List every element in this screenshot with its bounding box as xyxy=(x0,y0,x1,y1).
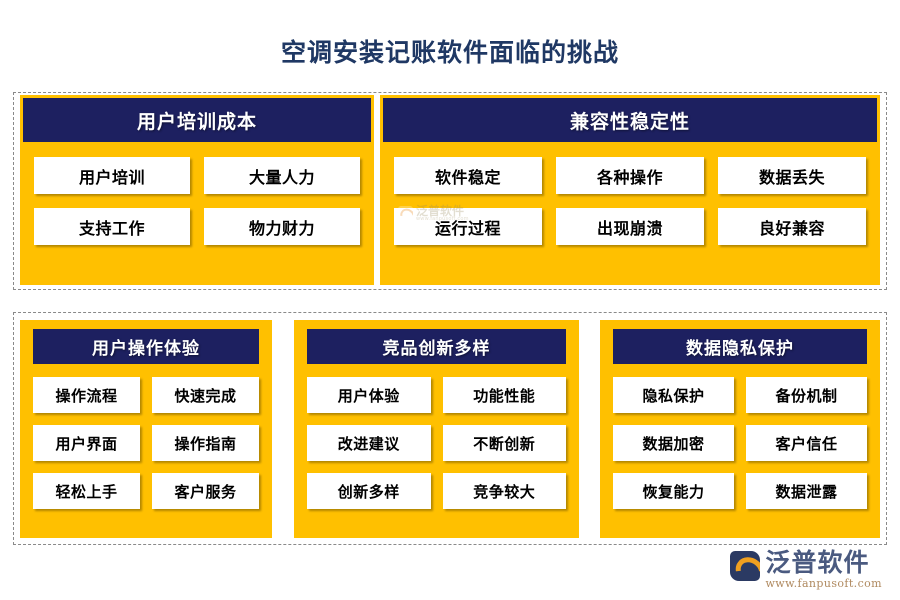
panel-header-user-training-cost: 用户培训成本 xyxy=(23,98,371,142)
item-box[interactable]: 用户体验 xyxy=(307,377,431,413)
items-grid-data-privacy: 隐私保护 备份机制 数据加密 客户信任 恢复能力 数据泄露 xyxy=(613,377,867,509)
item-box[interactable]: 客户服务 xyxy=(152,473,259,509)
item-box[interactable]: 恢复能力 xyxy=(613,473,734,509)
panel-header-data-privacy: 数据隐私保护 xyxy=(613,329,867,364)
item-box[interactable]: 不断创新 xyxy=(443,425,567,461)
panel-header-compatibility-stability: 兼容性稳定性 xyxy=(383,98,877,142)
item-box[interactable]: 操作指南 xyxy=(152,425,259,461)
item-box[interactable]: 出现崩溃 xyxy=(556,208,704,245)
items-grid-compatibility-stability: 软件稳定 各种操作 数据丢失 运行过程 出现崩溃 良好兼容 xyxy=(394,157,866,245)
brand-logo: 泛普软件 www.fanpusoft.com xyxy=(730,550,882,589)
item-box[interactable]: 功能性能 xyxy=(443,377,567,413)
items-grid-user-training-cost: 用户培训 大量人力 支持工作 物力财力 xyxy=(34,157,360,245)
item-box[interactable]: 软件稳定 xyxy=(394,157,542,194)
panel-compatibility-stability[interactable]: 兼容性稳定性 软件稳定 各种操作 数据丢失 运行过程 出现崩溃 良好兼容 泛普软… xyxy=(380,95,880,285)
item-box[interactable]: 竞争较大 xyxy=(443,473,567,509)
item-box[interactable]: 运行过程 xyxy=(394,208,542,245)
item-box[interactable]: 支持工作 xyxy=(34,208,190,245)
brand-swoosh-icon xyxy=(730,551,760,581)
item-box[interactable]: 改进建议 xyxy=(307,425,431,461)
item-box[interactable]: 数据加密 xyxy=(613,425,734,461)
item-box[interactable]: 物力财力 xyxy=(204,208,360,245)
brand-url: www.fanpusoft.com xyxy=(765,578,882,589)
items-grid-user-experience: 操作流程 快速完成 用户界面 操作指南 轻松上手 客户服务 xyxy=(33,377,259,509)
item-box[interactable]: 用户培训 xyxy=(34,157,190,194)
item-box[interactable]: 创新多样 xyxy=(307,473,431,509)
brand-text: 泛普软件 www.fanpusoft.com xyxy=(765,550,882,589)
item-box[interactable]: 轻松上手 xyxy=(33,473,140,509)
infographic-page: 空调安装记账软件面临的挑战 用户培训成本 用户培训 大量人力 支持工作 物力财力… xyxy=(0,0,900,600)
panel-header-user-experience: 用户操作体验 xyxy=(33,329,259,364)
items-grid-competitor-innovation: 用户体验 功能性能 改进建议 不断创新 创新多样 竞争较大 xyxy=(307,377,566,509)
panel-header-competitor-innovation: 竞品创新多样 xyxy=(307,329,566,364)
item-box[interactable]: 隐私保护 xyxy=(613,377,734,413)
panel-data-privacy[interactable]: 数据隐私保护 隐私保护 备份机制 数据加密 客户信任 恢复能力 数据泄露 xyxy=(600,320,880,538)
item-box[interactable]: 大量人力 xyxy=(204,157,360,194)
item-box[interactable]: 各种操作 xyxy=(556,157,704,194)
panel-competitor-innovation[interactable]: 竞品创新多样 用户体验 功能性能 改进建议 不断创新 创新多样 竞争较大 xyxy=(294,320,579,538)
panel-user-experience[interactable]: 用户操作体验 操作流程 快速完成 用户界面 操作指南 轻松上手 客户服务 xyxy=(20,320,272,538)
item-box[interactable]: 数据泄露 xyxy=(746,473,867,509)
item-box[interactable]: 客户信任 xyxy=(746,425,867,461)
item-box[interactable]: 用户界面 xyxy=(33,425,140,461)
item-box[interactable]: 快速完成 xyxy=(152,377,259,413)
page-title: 空调安装记账软件面临的挑战 xyxy=(0,38,900,68)
item-box[interactable]: 备份机制 xyxy=(746,377,867,413)
panel-user-training-cost[interactable]: 用户培训成本 用户培训 大量人力 支持工作 物力财力 xyxy=(20,95,374,285)
item-box[interactable]: 数据丢失 xyxy=(718,157,866,194)
brand-name-cn: 泛普软件 xyxy=(765,550,882,575)
item-box[interactable]: 操作流程 xyxy=(33,377,140,413)
item-box[interactable]: 良好兼容 xyxy=(718,208,866,245)
